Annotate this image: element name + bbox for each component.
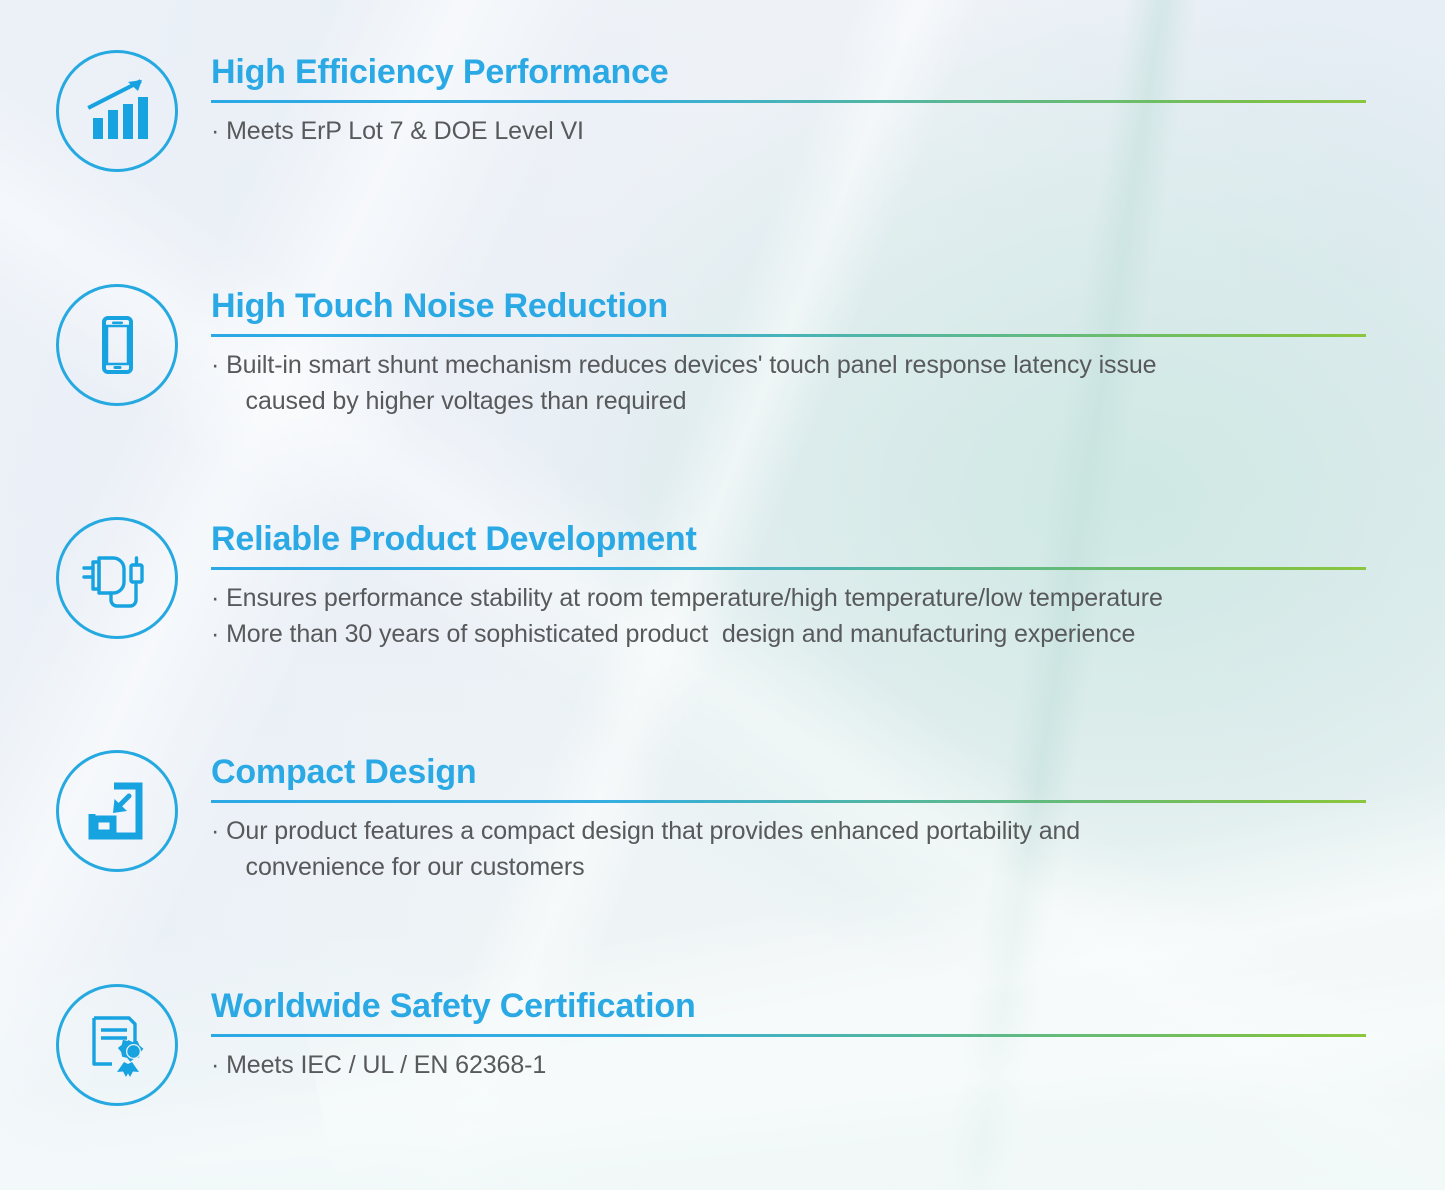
smartphone-icon bbox=[56, 284, 178, 406]
feature-divider bbox=[211, 567, 1366, 570]
feature-content: Compact Design · Our product features a … bbox=[211, 755, 1375, 885]
feature-highlights-page: High Efficiency Performance · Meets ErP … bbox=[0, 0, 1445, 1190]
feature-divider bbox=[211, 1034, 1366, 1037]
feature-title: Compact Design bbox=[211, 755, 1375, 791]
feature-content: Reliable Product Development · Ensures p… bbox=[211, 522, 1375, 652]
feature-bullet: · Meets IEC / UL / EN 62368-1 bbox=[211, 1047, 1375, 1083]
bar-chart-growth-icon bbox=[56, 50, 178, 172]
feature-body: · Built-in smart shunt mechanism reduces… bbox=[211, 347, 1375, 420]
feature-divider bbox=[211, 800, 1366, 803]
feature-body: · Meets ErP Lot 7 & DOE Level VI bbox=[211, 113, 1375, 149]
feature-title: High Efficiency Performance bbox=[211, 55, 1375, 91]
feature-content: High Efficiency Performance · Meets ErP … bbox=[211, 55, 1375, 149]
certificate-seal-icon bbox=[56, 984, 178, 1106]
feature-bullet: · More than 30 years of sophisticated pr… bbox=[211, 616, 1375, 652]
power-adapter-icon bbox=[56, 517, 178, 639]
feature-divider bbox=[211, 100, 1366, 103]
feature-title: High Touch Noise Reduction bbox=[211, 289, 1375, 325]
feature-body: · Meets IEC / UL / EN 62368-1 bbox=[211, 1047, 1375, 1083]
feature-title: Worldwide Safety Certification bbox=[211, 989, 1375, 1025]
feature-body: · Ensures performance stability at room … bbox=[211, 580, 1375, 653]
feature-content: High Touch Noise Reduction · Built-in sm… bbox=[211, 289, 1375, 419]
feature-title: Reliable Product Development bbox=[211, 522, 1375, 558]
feature-divider bbox=[211, 334, 1366, 337]
feature-body: · Our product features a compact design … bbox=[211, 813, 1375, 886]
compact-resize-icon bbox=[56, 750, 178, 872]
feature-bullet: · Our product features a compact design … bbox=[211, 813, 1375, 886]
feature-content: Worldwide Safety Certification · Meets I… bbox=[211, 989, 1375, 1083]
feature-bullet: · Meets ErP Lot 7 & DOE Level VI bbox=[211, 113, 1375, 149]
feature-bullet: · Ensures performance stability at room … bbox=[211, 580, 1375, 616]
feature-bullet: · Built-in smart shunt mechanism reduces… bbox=[211, 347, 1375, 420]
